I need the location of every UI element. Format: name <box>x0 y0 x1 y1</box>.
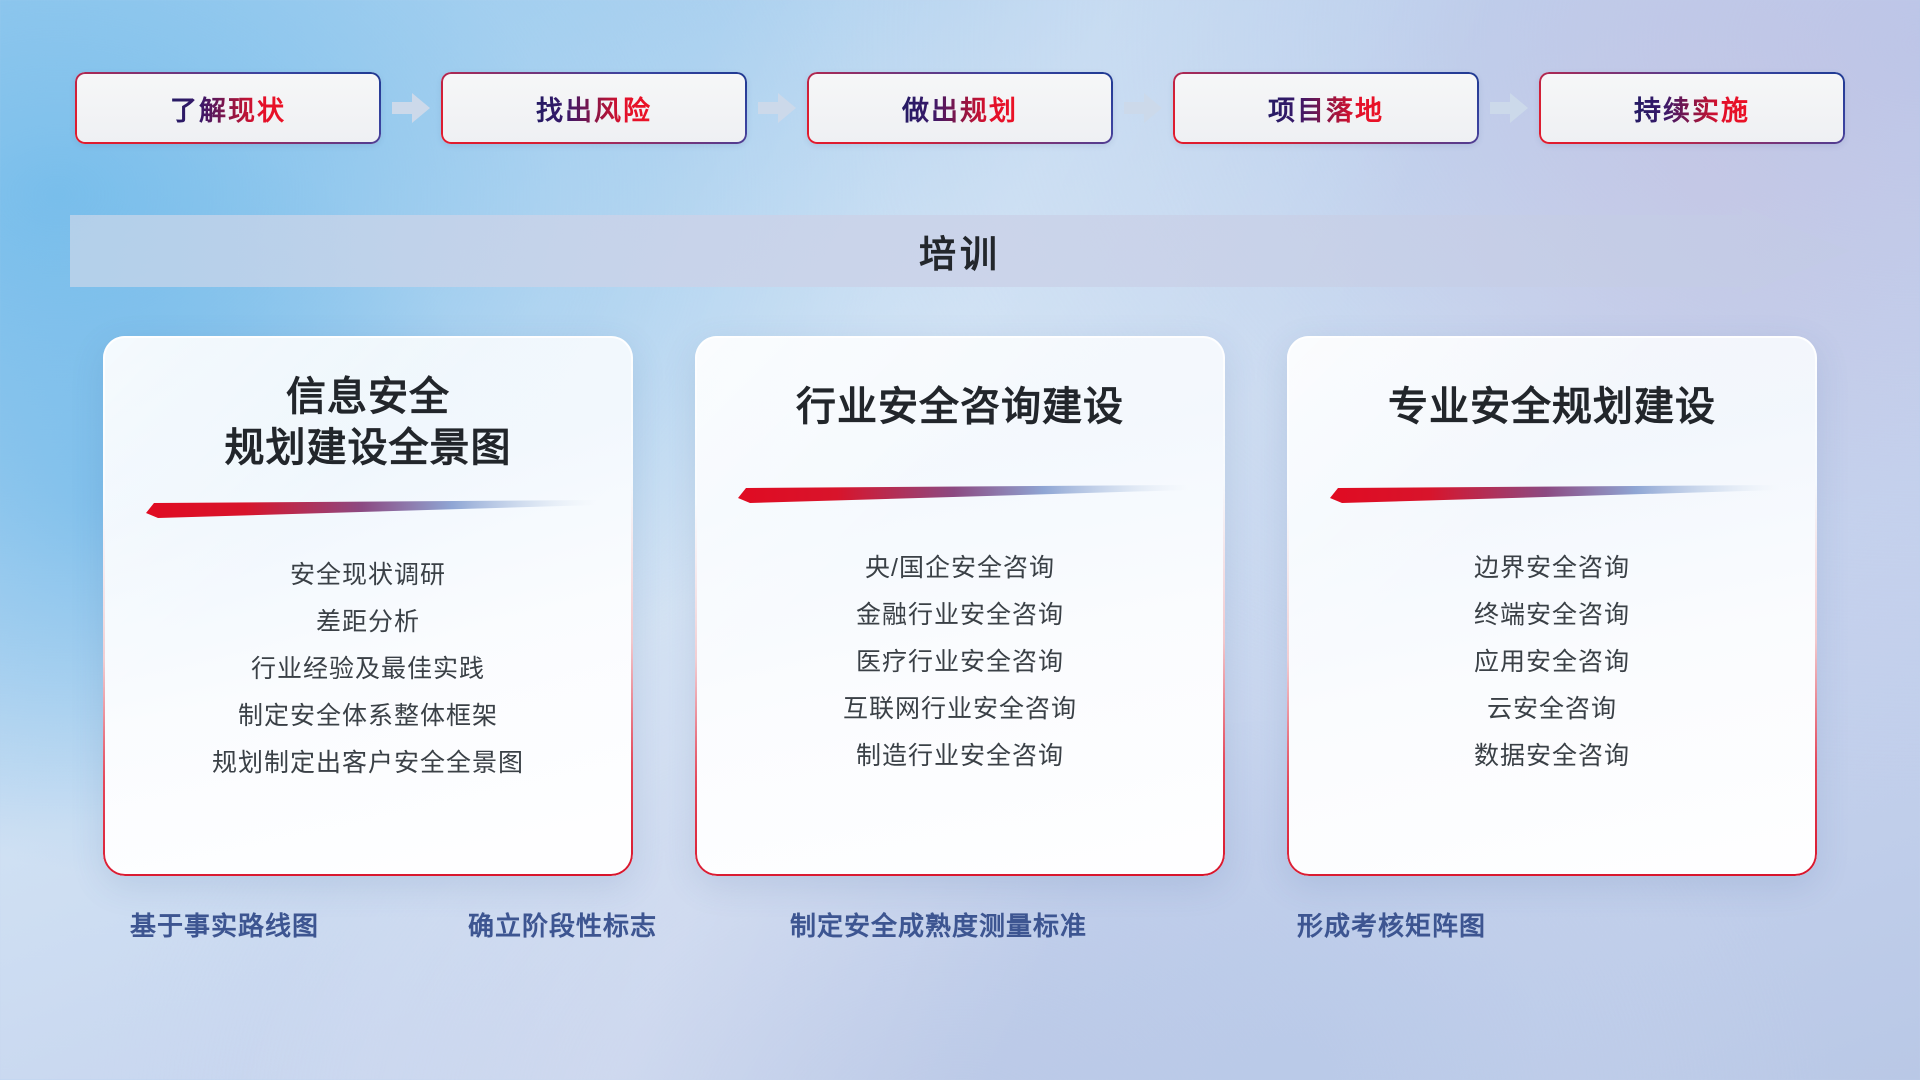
process-step-1[interactable]: 了解现状 <box>75 72 381 144</box>
footer-label-4: 形成考核矩阵图 <box>1297 906 1486 943</box>
step-arrow-icon <box>1479 72 1539 144</box>
card-item-list: 央/国企安全咨询金融行业安全咨询医疗行业安全咨询互联网行业安全咨询制造行业安全咨… <box>695 545 1225 780</box>
card-list-item: 医疗行业安全咨询 <box>856 639 1064 686</box>
card-list-item: 制定安全体系整体框架 <box>238 693 498 740</box>
process-step-3[interactable]: 做出规划 <box>807 72 1113 144</box>
training-banner: 培训 <box>70 207 1850 295</box>
card-item-list: 安全现状调研差距分析行业经验及最佳实践制定安全体系整体框架规划制定出客户安全全景… <box>103 552 633 787</box>
footer-label-2: 确立阶段性标志 <box>468 906 657 943</box>
process-step-label: 做出规划 <box>902 89 1018 128</box>
card-title: 行业安全咨询建设 <box>772 382 1148 433</box>
card-list-item: 终端安全咨询 <box>1474 592 1630 639</box>
card-divider <box>732 485 1188 503</box>
card-row: 信息安全规划建设全景图安全现状调研差距分析行业经验及最佳实践制定安全体系整体框架… <box>0 336 1920 876</box>
card-title-line: 信息安全 <box>225 372 512 423</box>
step-arrow-icon <box>381 72 441 144</box>
card-title: 专业安全规划建设 <box>1364 382 1740 433</box>
card-title-line: 专业安全规划建设 <box>1388 382 1716 433</box>
step-arrow-icon <box>1113 72 1173 144</box>
process-step-label: 持续实施 <box>1634 89 1750 128</box>
service-card-2[interactable]: 行业安全咨询建设央/国企安全咨询金融行业安全咨询医疗行业安全咨询互联网行业安全咨… <box>695 336 1225 876</box>
card-list-item: 制造行业安全咨询 <box>856 733 1064 780</box>
process-step-5[interactable]: 持续实施 <box>1539 72 1845 144</box>
card-list-item: 央/国企安全咨询 <box>865 545 1055 592</box>
process-step-2[interactable]: 找出风险 <box>441 72 747 144</box>
card-list-item: 规划制定出客户安全全景图 <box>212 740 524 787</box>
card-title-line: 行业安全咨询建设 <box>796 382 1124 433</box>
process-step-label: 了解现状 <box>170 89 286 128</box>
service-card-3[interactable]: 专业安全规划建设边界安全咨询终端安全咨询应用安全咨询云安全咨询数据安全咨询 <box>1287 336 1817 876</box>
card-list-item: 行业经验及最佳实践 <box>251 646 485 693</box>
footer-label-row: 基于事实路线图确立阶段性标志制定安全成熟度测量标准形成考核矩阵图 <box>0 906 1920 966</box>
card-list-item: 数据安全咨询 <box>1474 733 1630 780</box>
card-list-item: 云安全咨询 <box>1487 686 1617 733</box>
step-arrow-icon <box>747 72 807 144</box>
process-step-label: 找出风险 <box>536 89 652 128</box>
banner-label: 培训 <box>70 207 1850 295</box>
card-divider <box>140 500 596 518</box>
card-list-item: 应用安全咨询 <box>1474 639 1630 686</box>
card-list-item: 金融行业安全咨询 <box>856 592 1064 639</box>
process-step-4[interactable]: 项目落地 <box>1173 72 1479 144</box>
card-title-line: 规划建设全景图 <box>225 423 512 474</box>
footer-label-1: 基于事实路线图 <box>130 906 319 943</box>
card-list-item: 互联网行业安全咨询 <box>843 686 1077 733</box>
card-item-list: 边界安全咨询终端安全咨询应用安全咨询云安全咨询数据安全咨询 <box>1287 545 1817 780</box>
card-list-item: 边界安全咨询 <box>1474 545 1630 592</box>
card-divider <box>1324 485 1780 503</box>
card-title: 信息安全规划建设全景图 <box>201 372 536 474</box>
card-list-item: 差距分析 <box>316 599 420 646</box>
process-step-row: 了解现状找出风险做出规划项目落地持续实施 <box>0 72 1920 144</box>
service-card-1[interactable]: 信息安全规划建设全景图安全现状调研差距分析行业经验及最佳实践制定安全体系整体框架… <box>103 336 633 876</box>
card-list-item: 安全现状调研 <box>290 552 446 599</box>
footer-label-3: 制定安全成熟度测量标准 <box>790 906 1087 943</box>
process-step-label: 项目落地 <box>1268 89 1384 128</box>
